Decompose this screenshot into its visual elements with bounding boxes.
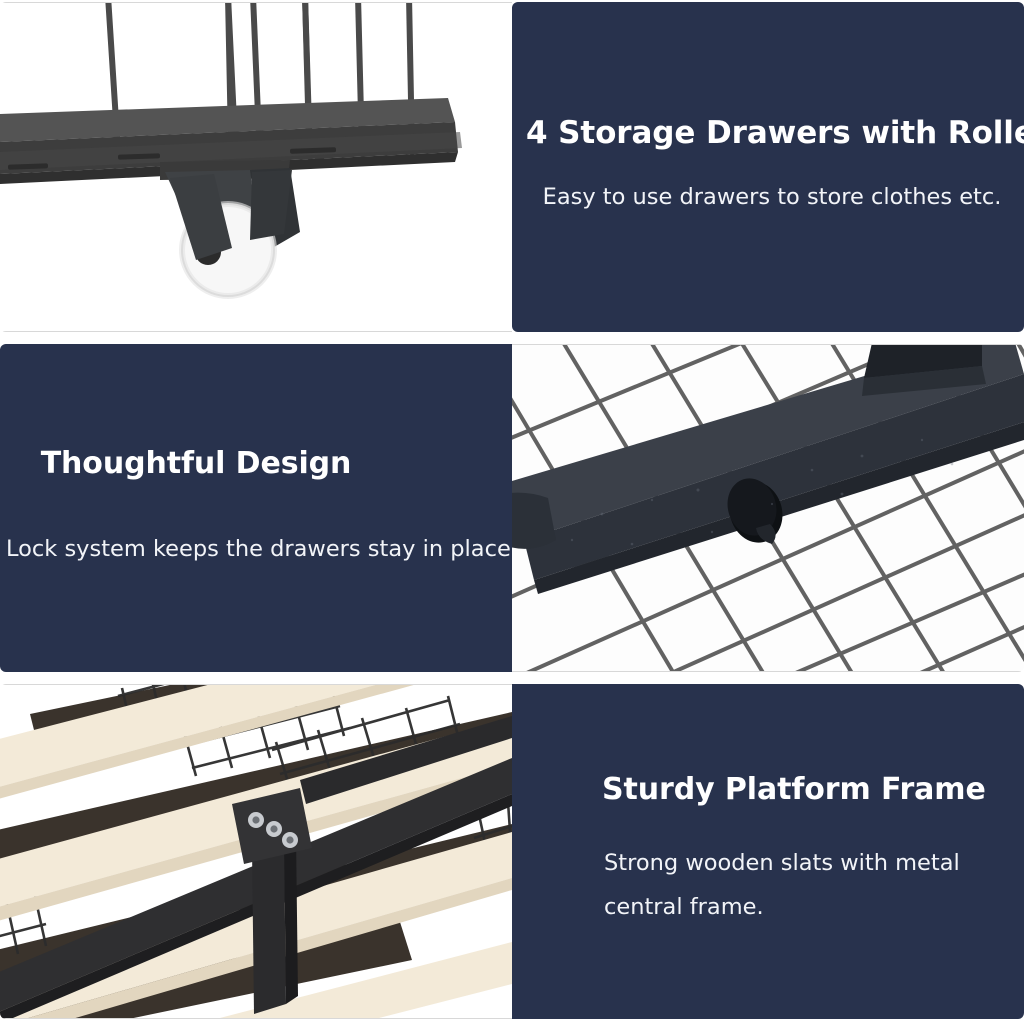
panel-subtitle: Strong wooden slats with metal central f… bbox=[560, 842, 1014, 930]
panel-title: 4 Storage Drawers with Rollers bbox=[526, 116, 1018, 152]
panel-subtitle: Lock system keeps the drawers stay in pl… bbox=[4, 530, 508, 569]
feature-row-sturdy-platform-frame: Sturdy Platform Frame Strong wooden slat… bbox=[0, 684, 1024, 1019]
infographic-sheet: 4 Storage Drawers with Rollers Easy to u… bbox=[0, 0, 1024, 1021]
panel-title: Sturdy Platform Frame bbox=[560, 773, 1014, 808]
caster-wheel-illustration bbox=[0, 2, 512, 332]
product-photo-lock-rail bbox=[512, 344, 1024, 672]
feature-panel-storage-drawers: 4 Storage Drawers with Rollers Easy to u… bbox=[512, 2, 1024, 332]
panel-subtitle: Easy to use drawers to store clothes etc… bbox=[526, 178, 1018, 217]
feature-row-thoughtful-design: Thoughtful Design Lock system keeps the … bbox=[0, 344, 1024, 672]
panel-subtitle-line-2: central frame. bbox=[604, 886, 1014, 930]
panel-title: Thoughtful Design bbox=[4, 447, 508, 482]
feature-row-storage-drawers: 4 Storage Drawers with Rollers Easy to u… bbox=[0, 2, 1024, 332]
wooden-slats-illustration bbox=[0, 684, 512, 1019]
product-photo-wooden-slats bbox=[0, 684, 512, 1019]
panel-subtitle-line-1: Strong wooden slats with metal bbox=[604, 842, 1014, 886]
lock-rail-illustration bbox=[512, 344, 1024, 672]
feature-panel-thoughtful-design: Thoughtful Design Lock system keeps the … bbox=[0, 344, 512, 672]
product-photo-caster-wheel bbox=[0, 2, 512, 332]
feature-panel-sturdy-platform-frame: Sturdy Platform Frame Strong wooden slat… bbox=[512, 684, 1024, 1019]
